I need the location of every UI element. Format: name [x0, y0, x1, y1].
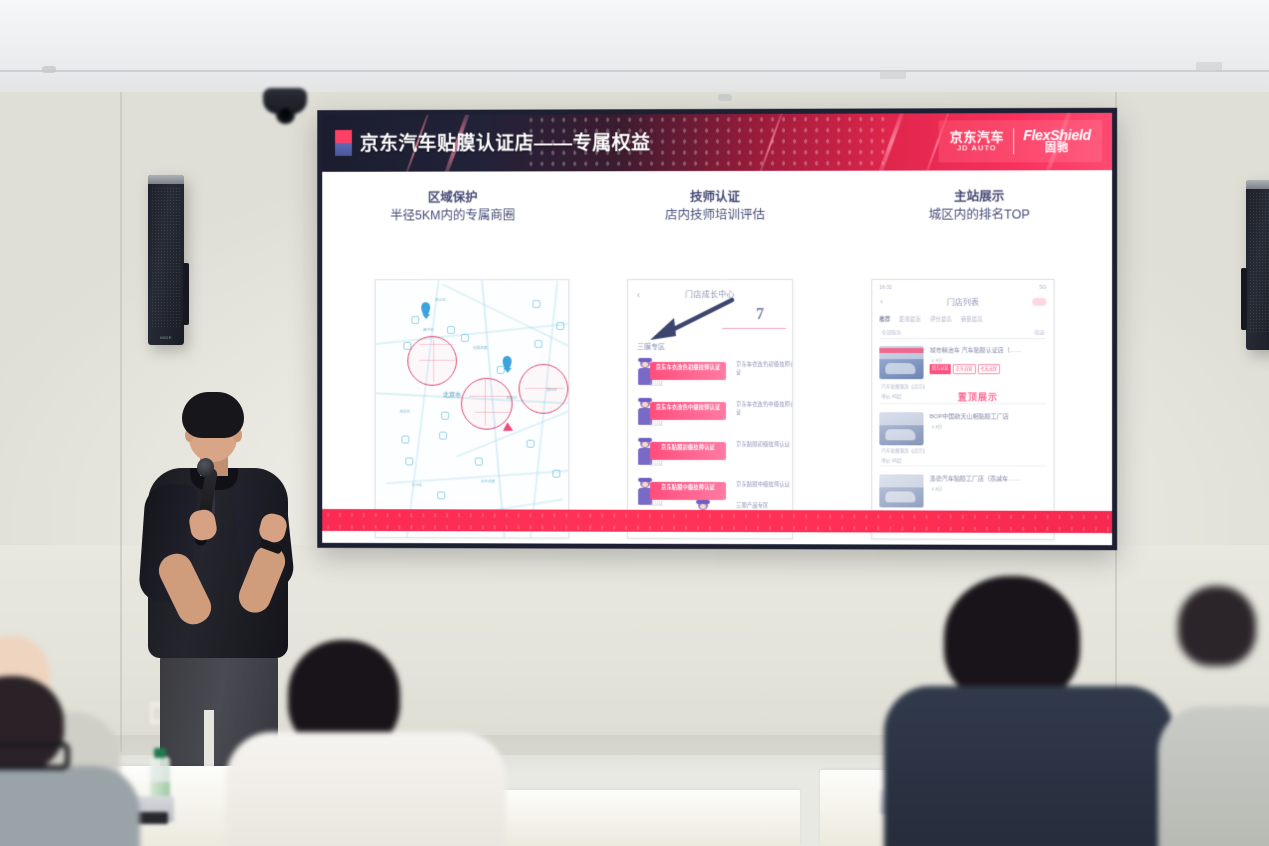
jd-auto-logo: 京东汽车 JD AUTO	[950, 130, 1004, 152]
store-price: 单价 ¥0起	[881, 394, 901, 400]
product-zone-desc: 三膜产品专区	[736, 502, 793, 510]
col3-heading: 主站展示	[847, 187, 1112, 206]
audience-member	[236, 626, 486, 846]
brand-lockup: 京东汽车 JD AUTO FlexShield 固驰	[939, 120, 1102, 163]
map-label: 大兴区	[411, 483, 422, 488]
store-thumbnail	[879, 412, 923, 445]
course-status: 已认证	[650, 421, 663, 427]
slide-surface: 京东汽车贴膜认证店——专属权益 京东汽车 JD AUTO FlexShield …	[322, 113, 1112, 545]
map-label: 顺义区	[435, 298, 446, 303]
filter-button[interactable]: 筛选	[1034, 329, 1044, 336]
course-desc: 京东车衣改色中级技师认证	[736, 401, 793, 417]
col2-subheading: 店内技师培训评估	[584, 206, 847, 225]
store-name: 洛德汽车贴膜工厂店（燕减车……	[930, 475, 1045, 484]
right-column-speaker	[1246, 180, 1269, 350]
jd-logo-en: JD AUTO	[950, 144, 1004, 152]
flexshield-logo: FlexShield 固驰	[1023, 128, 1091, 155]
status-signal: 5G	[1040, 285, 1047, 291]
col1-heading: 区域保护	[322, 188, 583, 207]
column-heading-mainsite: 主站展示 城区内的排名TOP	[847, 187, 1112, 224]
panels-row: 顺义区 昌平区 京藏高速 通州区 朝阳区 海淀区 京开高速 大兴区 北京市	[322, 279, 1112, 530]
course-row[interactable]: 京东贴膜初级技师认证 京东贴膜初级技师认证 已认证	[636, 438, 788, 468]
store-thumbnail	[879, 474, 923, 507]
region-protection-map: 顺义区 昌平区 京藏高速 通州区 朝阳区 海淀区 京开高速 大兴区 北京市	[375, 279, 570, 538]
speaker-brand-label: MIDE	[148, 335, 184, 340]
column-heading-technician: 技师认证 店内技师培训评估	[584, 188, 847, 225]
audience-table	[470, 790, 800, 846]
tab-nearest[interactable]: 距离最近	[899, 315, 921, 323]
course-badge: 京东车衣改色初级技师认证	[650, 362, 726, 380]
course-desc: 京东车衣改色初级技师认证	[736, 361, 793, 377]
store-meta: 汽车贴膜服务【北京】	[881, 384, 927, 390]
column-headings: 区域保护 半径5KM内的专属商圈 技师认证 店内技师培训评估 主站展示 城区内的…	[322, 187, 1112, 225]
course-desc: 京东贴膜初级技师认证	[736, 441, 793, 449]
store-growth-center-panel: ‹ 门店成长中心 7 三膜专区	[627, 279, 793, 539]
title-accent-chip	[335, 130, 352, 156]
audience-member	[1160, 586, 1269, 706]
eyeglasses-icon	[0, 742, 70, 770]
audience-member	[0, 646, 150, 846]
course-badge: 京东车衣改色中级技师认证	[650, 402, 726, 420]
course-row[interactable]: 京东车衣改色中级技师认证 京东车衣改色中级技师认证 已认证	[636, 398, 788, 428]
tab-recommended[interactable]: 推荐	[879, 315, 890, 323]
ceiling-seam	[0, 70, 1269, 72]
store-name: 城市精治车 汽车贴膜认证店（……	[930, 347, 1045, 355]
phone-status-bar: 16:32 5G	[872, 285, 1053, 294]
course-status: 已认证	[650, 461, 663, 467]
store-price: 单价 ¥0起	[881, 458, 901, 464]
listing-navbar: ‹ 门店列表	[872, 297, 1053, 311]
course-badge: 京东贴膜中级技师认证	[650, 482, 726, 500]
map-pin[interactable]	[421, 302, 430, 315]
map-label: 京藏高速	[473, 346, 487, 351]
sprinkler-icon	[42, 66, 56, 73]
flexshield-logo-en: FlexShield	[1023, 128, 1091, 143]
tab-top-rated[interactable]: 评分最高	[930, 315, 952, 323]
section-label: 三膜专区	[637, 342, 665, 352]
annotation-arrow-icon	[644, 296, 736, 342]
conference-room-scene: MIDE 京东汽车贴膜认证店——专属权益 京东汽车	[0, 0, 1269, 846]
store-score: 4.8分	[932, 424, 943, 430]
slide-header: 京东汽车贴膜认证店——专属权益 京东汽车 JD AUTO FlexShield …	[322, 113, 1112, 172]
page-title: 京东汽车贴膜认证店——专属权益	[360, 128, 651, 156]
slide-footer-bar	[322, 509, 1112, 533]
store-tag: 官方认证	[930, 364, 951, 374]
sprinkler-icon	[718, 94, 732, 101]
store-score: 4.8分	[932, 486, 943, 492]
filter-service[interactable]: 全部服务	[881, 329, 901, 336]
left-column-speaker: MIDE	[148, 175, 184, 345]
course-row[interactable]: 京东车衣改色初级技师认证 京东车衣改色初级技师认证 已认证	[636, 358, 788, 388]
ceiling-vent-icon	[880, 70, 906, 79]
store-tag: 七天无忧	[977, 364, 1000, 374]
presentation-screen: 京东汽车贴膜认证店——专属权益 京东汽车 JD AUTO FlexShield …	[317, 108, 1117, 550]
logo-divider	[1013, 128, 1014, 154]
col1-subheading: 半径5KM内的专属商圈	[322, 206, 583, 224]
map-label: 京开高速	[481, 480, 495, 485]
main-site-store-listing-panel: 16:32 5G ‹ 门店列表 推荐 距离最近 评分最高 销量最高	[871, 279, 1054, 540]
store-thumbnail	[879, 346, 923, 379]
sort-tabs: 推荐 距离最近 评分最高 销量最高	[879, 314, 1046, 324]
col3-subheading: 城区内的排名TOP	[847, 205, 1112, 224]
map-toggle-button[interactable]	[1032, 298, 1046, 306]
audience-member	[1158, 686, 1269, 846]
map-label: 昌平区	[423, 328, 434, 333]
col2-heading: 技师认证	[584, 188, 847, 207]
tab-best-selling[interactable]: 销量最高	[961, 315, 983, 323]
store-tag: 京东自营	[952, 364, 975, 374]
ceiling-vent-icon	[1196, 62, 1222, 71]
ceiling	[0, 0, 1269, 96]
badge-number: 7	[756, 306, 764, 324]
ptz-camera-icon	[263, 88, 307, 126]
store-tags: 官方认证 京东自营 七天无忧	[930, 364, 1001, 374]
course-desc: 京东贴膜中级技师认证	[736, 481, 793, 489]
listing-nav-title: 门店列表	[872, 297, 1053, 308]
slide-body: 区域保护 半径5KM内的专属商圈 技师认证 店内技师培训评估 主站展示 城区内的…	[322, 170, 1112, 533]
status-time: 16:32	[879, 285, 892, 291]
flexshield-logo-cn: 固驰	[1023, 143, 1091, 155]
store-card[interactable]: 城市精治车 汽车贴膜认证店（…… 4.9分 官方认证 京东自营 七天无忧 汽车贴…	[879, 342, 1046, 404]
map-city-label: 北京市	[443, 390, 461, 399]
map-label: 海淀区	[399, 410, 410, 415]
course-badge: 京东贴膜初级技师认证	[650, 442, 726, 460]
audience-member	[888, 576, 1168, 846]
map-pin[interactable]	[503, 356, 512, 369]
jd-logo-cn: 京东汽车	[950, 130, 1004, 144]
course-status: 已认证	[650, 381, 663, 387]
store-card[interactable]: BOP中国航天山相贴膜工厂店 4.8分 汽车贴膜服务【北京】 单价 ¥0起	[879, 408, 1046, 466]
annotation-label: 置顶展示	[958, 390, 998, 403]
column-heading-region: 区域保护 半径5KM内的专属商圈	[322, 188, 583, 225]
store-meta: 汽车贴膜服务【北京】	[881, 448, 927, 454]
store-name: BOP中国航天山相贴膜工厂店	[930, 413, 1045, 422]
protection-zone-circle	[461, 378, 513, 430]
filter-bar: 全部服务 筛选	[879, 328, 1046, 339]
